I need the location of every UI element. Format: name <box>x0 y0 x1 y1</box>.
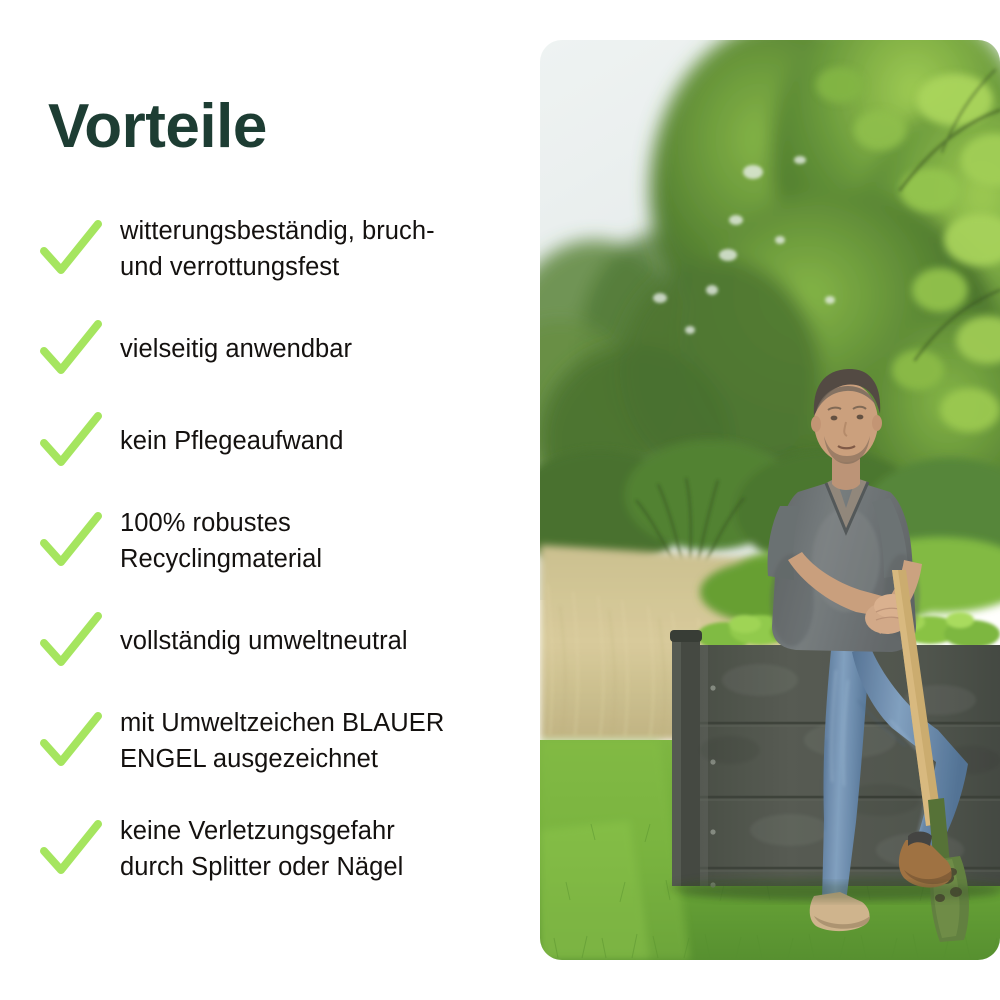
benefit-item: vollständig umweltneutral <box>40 606 520 676</box>
benefit-label: witterungsbeständig, bruch- und verrottu… <box>120 213 520 285</box>
benefit-item: witterungsbeständig, bruch- und verrottu… <box>40 206 520 292</box>
check-icon <box>40 612 102 670</box>
benefit-label: keine Verletzungsgefahr durch Splitter o… <box>120 813 520 885</box>
check-icon <box>40 320 102 378</box>
benefit-label: 100% robustes Recyclingmaterial <box>120 505 520 577</box>
benefit-label: vielseitig anwendbar <box>120 331 520 367</box>
check-icon <box>40 412 102 470</box>
check-icon <box>40 220 102 278</box>
benefit-item: keine Verletzungsgefahr durch Splitter o… <box>40 806 520 892</box>
check-icon <box>40 512 102 570</box>
benefits-panel: Vorteile witterungsbeständig, bruch- und… <box>0 0 530 1000</box>
benefit-item: vielseitig anwendbar <box>40 314 520 384</box>
garden-photo <box>540 40 1000 960</box>
benefit-item: mit Umweltzeichen BLAUER ENGEL ausgezeic… <box>40 698 520 784</box>
check-icon <box>40 820 102 878</box>
benefit-item: 100% robustes Recyclingmaterial <box>40 498 520 584</box>
benefit-item: kein Pflegeaufwand <box>40 406 520 476</box>
benefit-label: kein Pflegeaufwand <box>120 423 520 459</box>
benefits-list: witterungsbeständig, bruch- und verrottu… <box>40 206 520 914</box>
promo-graphic: Vorteile witterungsbeständig, bruch- und… <box>0 0 1000 1000</box>
benefit-label: vollständig umweltneutral <box>120 623 520 659</box>
page-title: Vorteile <box>48 96 267 158</box>
benefit-label: mit Umweltzeichen BLAUER ENGEL ausgezeic… <box>120 705 520 777</box>
check-icon <box>40 712 102 770</box>
